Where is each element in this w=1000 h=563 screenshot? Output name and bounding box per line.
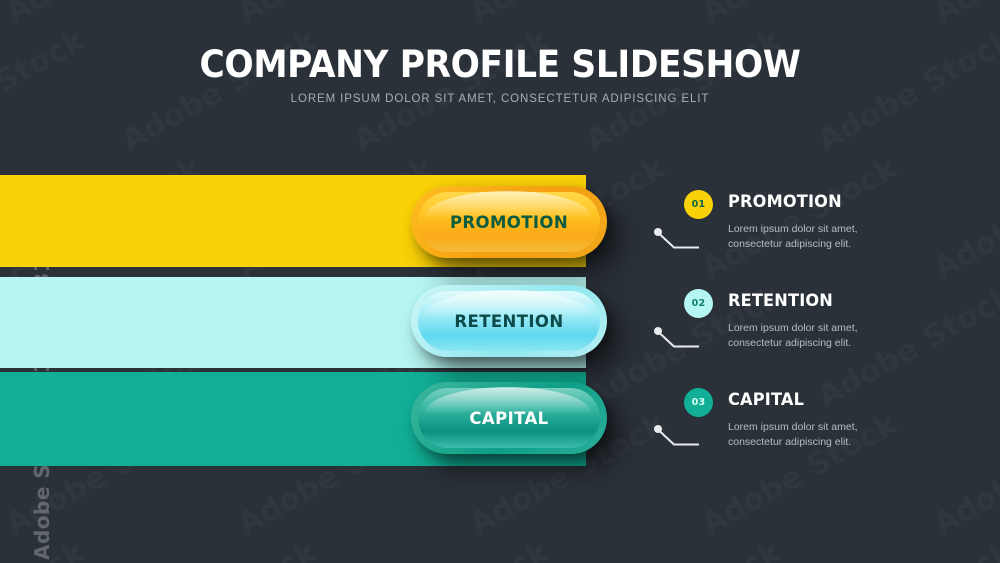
watermark-text: Adobe Stock — [580, 535, 787, 563]
pill-promotion-label: PROMOTION — [411, 186, 607, 258]
watermark-text: Adobe Stock — [812, 535, 1000, 563]
legend-badge-01: 01 — [684, 190, 713, 219]
pill-capital-label: CAPITAL — [411, 382, 607, 454]
pill-promotion[interactable]: PROMOTION — [411, 186, 607, 258]
connector-line-2 — [653, 326, 701, 352]
watermark-text: Adobe Stock — [928, 407, 1000, 543]
pill-retention[interactable]: RETENTION — [411, 285, 607, 357]
pill-capital[interactable]: CAPITAL — [411, 382, 607, 454]
connector-line-1 — [653, 227, 701, 253]
header: COMPANY PROFILE SLIDESHOW LOREM IPSUM DO… — [0, 0, 1000, 105]
legend-body-retention: Lorem ipsum dolor sit amet, consectetur … — [728, 321, 900, 350]
legend-title-retention: RETENTION — [728, 291, 833, 311]
watermark-text: Adobe Stock — [928, 151, 1000, 287]
legend-badge-03: 03 — [684, 388, 713, 417]
watermark-text: Adobe Stock — [348, 535, 555, 563]
page-title: COMPANY PROFILE SLIDESHOW — [35, 45, 965, 85]
legend-badge-02: 02 — [684, 289, 713, 318]
watermark-text: Adobe Stock — [696, 151, 903, 287]
legend-body-promotion: Lorem ipsum dolor sit amet, consectetur … — [728, 222, 900, 251]
legend-body-capital: Lorem ipsum dolor sit amet, consectetur … — [728, 420, 900, 449]
legend-title-capital: CAPITAL — [728, 390, 804, 410]
watermark-text: Adobe Stock — [116, 535, 323, 563]
page-subtitle: LOREM IPSUM DOLOR SIT AMET, CONSECTETUR … — [0, 93, 1000, 105]
connector-line-3 — [653, 424, 701, 450]
legend-title-promotion: PROMOTION — [728, 192, 842, 212]
watermark-text: Adobe Stock — [0, 535, 91, 563]
pill-retention-label: RETENTION — [411, 285, 607, 357]
